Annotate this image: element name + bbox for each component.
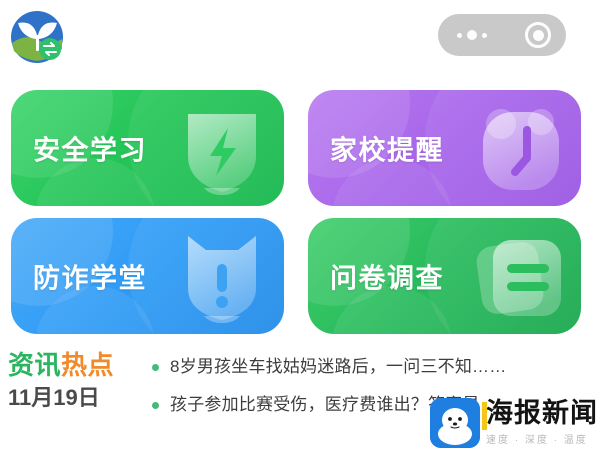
watermark-tagline: 速度 · 深度 · 温度 — [486, 431, 598, 446]
card-label: 安全学习 — [33, 129, 147, 168]
bullet-icon — [152, 364, 159, 371]
card-anti-fraud-academy[interactable]: 防诈学堂 — [11, 218, 284, 334]
top-bar — [0, 0, 600, 78]
card-label: 家校提醒 — [330, 129, 444, 168]
card-label: 防诈学堂 — [33, 257, 147, 296]
card-home-school-reminder[interactable]: 家校提醒 — [308, 90, 581, 206]
survey-document-icon — [471, 226, 567, 326]
watermark-name: 海报新闻 — [486, 400, 598, 427]
target-circle-icon[interactable] — [525, 22, 551, 48]
watermark-text: 海报新闻 速度 · 深度 · 温度 — [486, 400, 598, 446]
news-title-primary: 资讯 — [8, 350, 61, 380]
watermark: 海报新闻 速度 · 深度 · 温度 — [430, 396, 598, 450]
news-item-text: 8岁男孩坐车找姑妈迷路后，一问三不知…… — [170, 355, 506, 379]
card-questionnaire-survey[interactable]: 问卷调查 — [308, 218, 581, 334]
news-date: 11月19日 — [8, 387, 148, 409]
shield-bolt-icon — [174, 98, 270, 198]
wechat-capsule-bar[interactable] — [438, 14, 566, 56]
news-title-secondary: 热点 — [61, 350, 114, 380]
news-title: 资讯热点 — [8, 352, 148, 378]
card-safety-learning[interactable]: 安全学习 — [11, 90, 284, 206]
card-label: 问卷调查 — [330, 257, 444, 296]
clock-icon — [471, 98, 567, 198]
more-dots-icon[interactable] — [457, 30, 487, 40]
news-header: 资讯热点 11月19日 — [8, 352, 148, 409]
accent-bar — [482, 402, 487, 430]
alert-shield-icon — [174, 226, 270, 326]
sprout-logo-icon — [8, 9, 68, 67]
seal-mascot-icon — [430, 398, 480, 448]
bullet-icon — [152, 402, 159, 409]
list-item[interactable]: 8岁男孩坐车找姑妈迷路后，一问三不知…… — [152, 355, 596, 379]
feature-card-grid: 安全学习 家校提醒 — [0, 88, 600, 336]
app-logo — [8, 9, 68, 67]
